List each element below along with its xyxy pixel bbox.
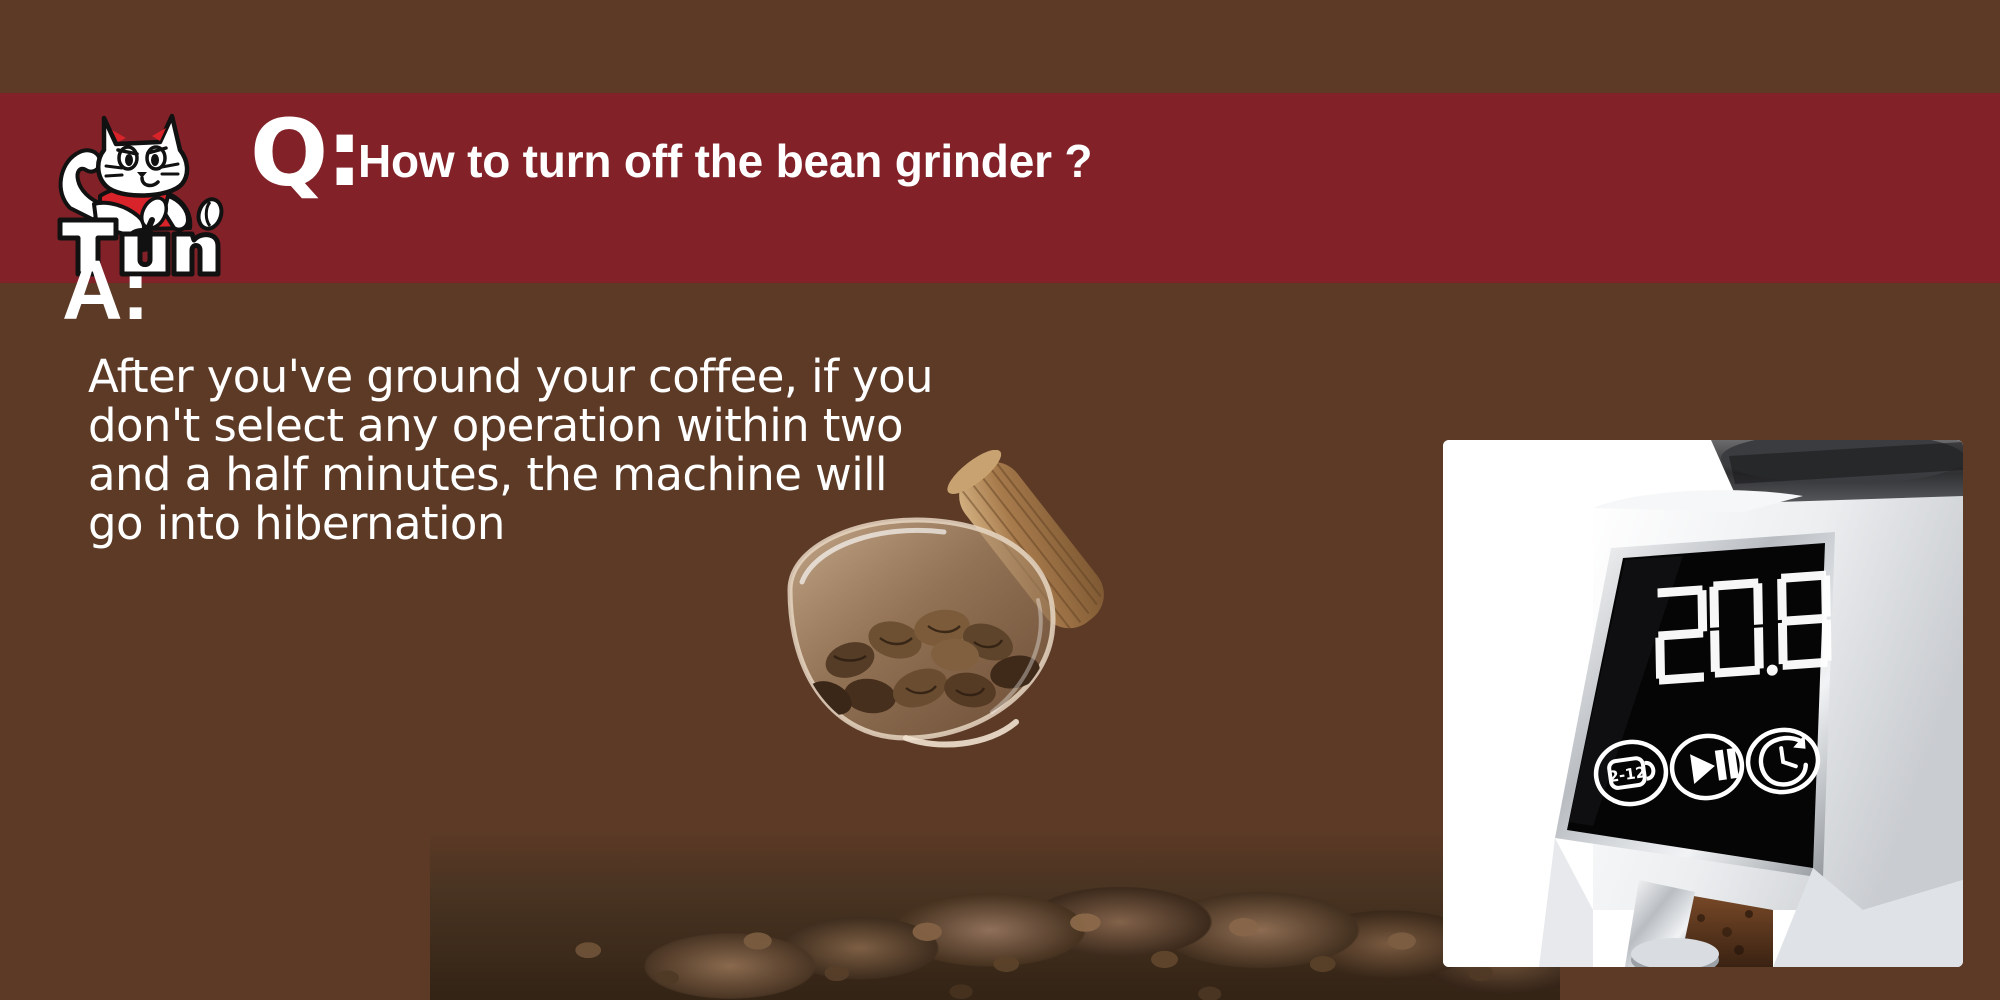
product-image-card: 2-12 [1443, 440, 1963, 967]
coffee-bean-pile [430, 780, 1560, 1000]
question-marker: Q: [250, 108, 361, 200]
answer-marker: A: [62, 248, 149, 332]
answer-line-1: After you've ground your coffee, if you [88, 352, 918, 401]
question-text: How to turn off the bean grinder ? [358, 134, 1092, 188]
background-top-brown [0, 0, 2000, 93]
coffee-photo-scene [430, 430, 1560, 1000]
banner-canvas: Q: How to turn off the bean grinder ? A:… [0, 0, 2000, 1000]
